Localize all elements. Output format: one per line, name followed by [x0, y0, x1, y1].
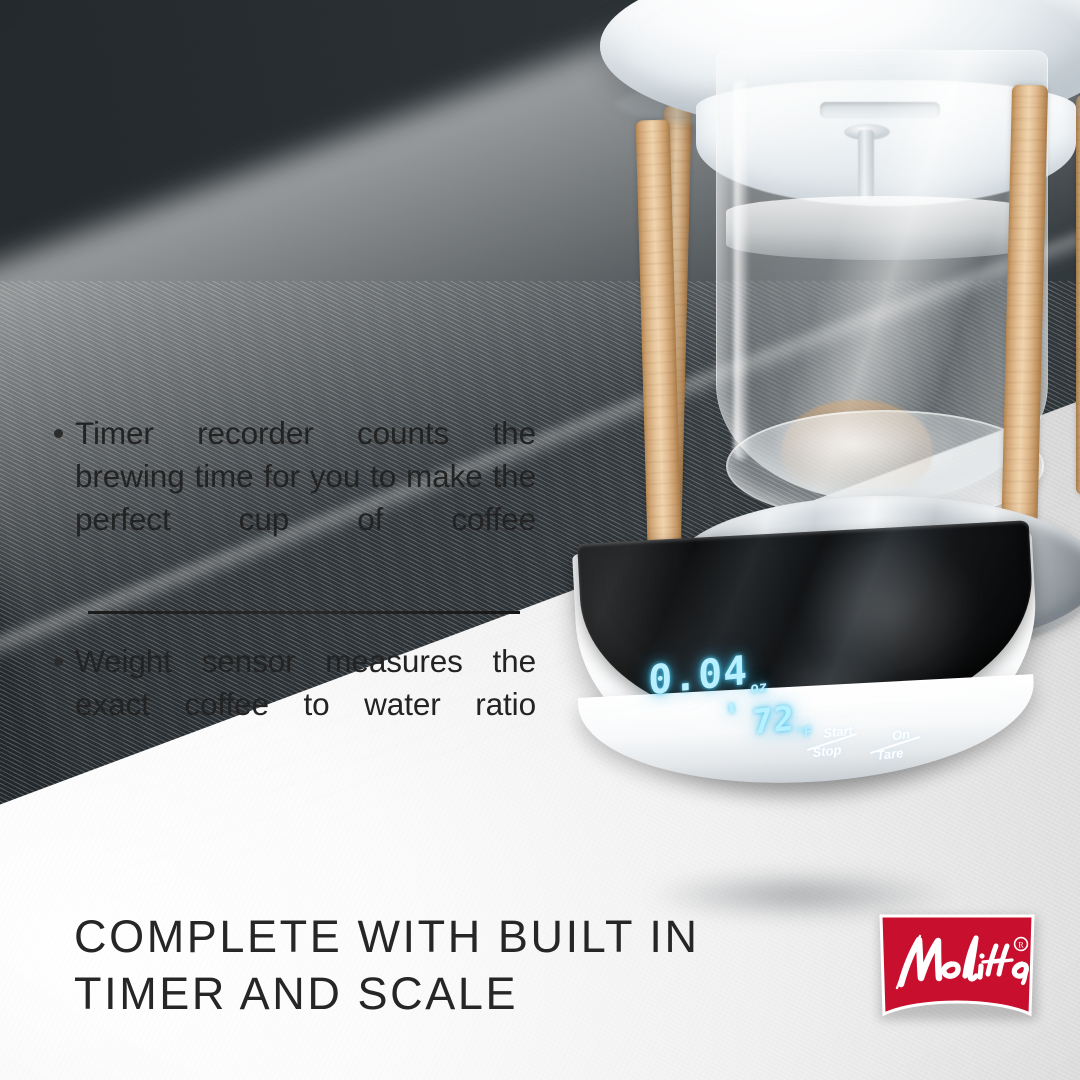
svg-text:R: R	[1018, 940, 1024, 949]
temperature-readout: 72°F	[752, 697, 812, 746]
feature-bullets: Timer recorder counts the brewing time f…	[54, 412, 536, 769]
digital-scale-assembly	[520, 0, 1080, 890]
product-feature-card: 0.04oz ▮ 72°F Start Stop On Tare Timer r…	[0, 0, 1080, 1080]
bullet-divider	[88, 611, 520, 614]
start-stop-button[interactable]: Start Stop	[805, 723, 860, 760]
temperature-value: 72	[752, 699, 795, 744]
weight-value: 0.04	[648, 648, 749, 705]
melitta-logo: R	[875, 910, 1039, 1022]
bullet-dot-icon	[54, 429, 63, 438]
on-tare-button[interactable]: On Tare	[868, 726, 923, 763]
bullet-item-weight-sensor: Weight sensor measures the exact coffee …	[54, 640, 536, 769]
footer: Complete with built in timer and scale	[0, 908, 1080, 1050]
weight-unit: oz	[750, 679, 767, 697]
footer-headline: Complete with built in timer and scale	[74, 908, 714, 1022]
bullet-dot-icon	[54, 657, 63, 666]
bullet-text-timer: Timer recorder counts the brewing time f…	[75, 412, 536, 584]
bullet-text-weight-sensor: Weight sensor measures the exact coffee …	[75, 640, 536, 769]
battery-icon: ▮	[726, 698, 738, 717]
bullet-item-timer: Timer recorder counts the brewing time f…	[54, 412, 536, 584]
